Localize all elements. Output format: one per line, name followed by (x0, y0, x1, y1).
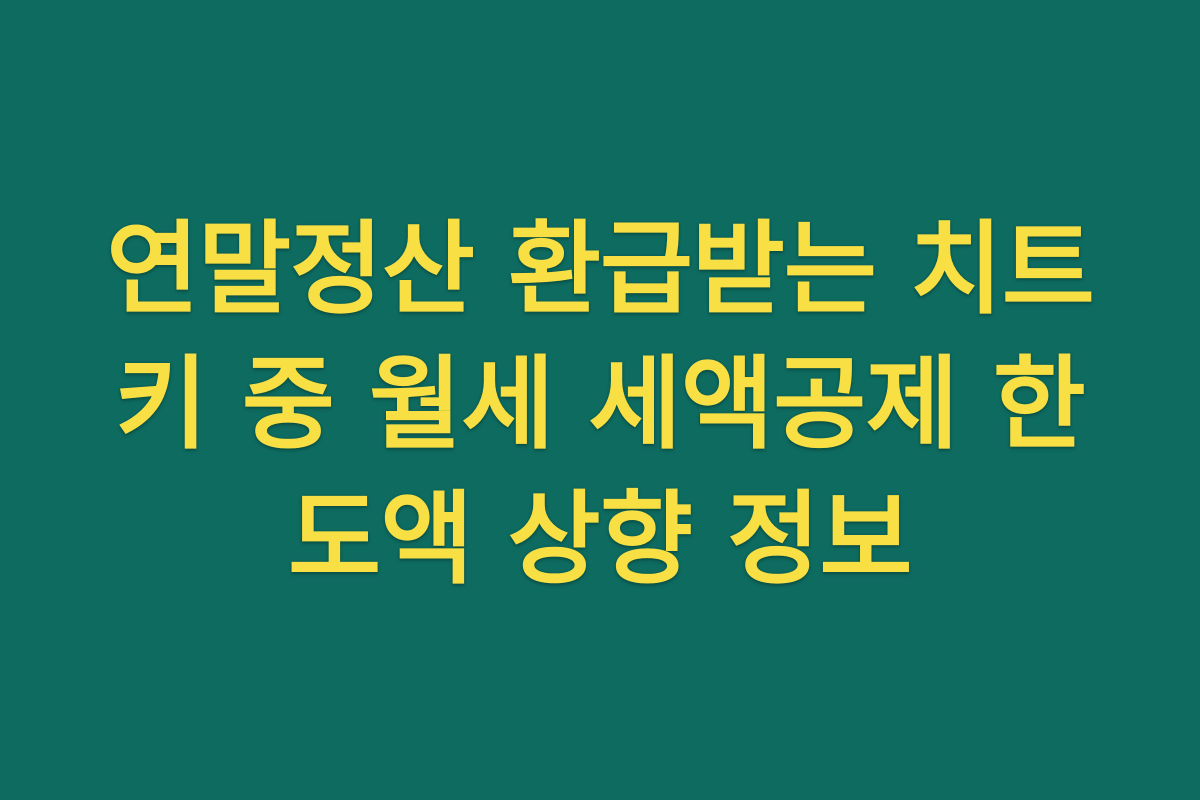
headline-line-3: 도액 상향 정보 (52, 472, 1148, 607)
headline-line-2: 키 중 월세 세액공제 한 (52, 337, 1148, 472)
thumbnail-card: 연말정산 환급받는 치트 키 중 월세 세액공제 한 도액 상향 정보 (0, 0, 1200, 800)
headline-text-block: 연말정산 환급받는 치트 키 중 월세 세액공제 한 도액 상향 정보 (40, 202, 1160, 607)
headline-line-1: 연말정산 환급받는 치트 (52, 202, 1148, 337)
